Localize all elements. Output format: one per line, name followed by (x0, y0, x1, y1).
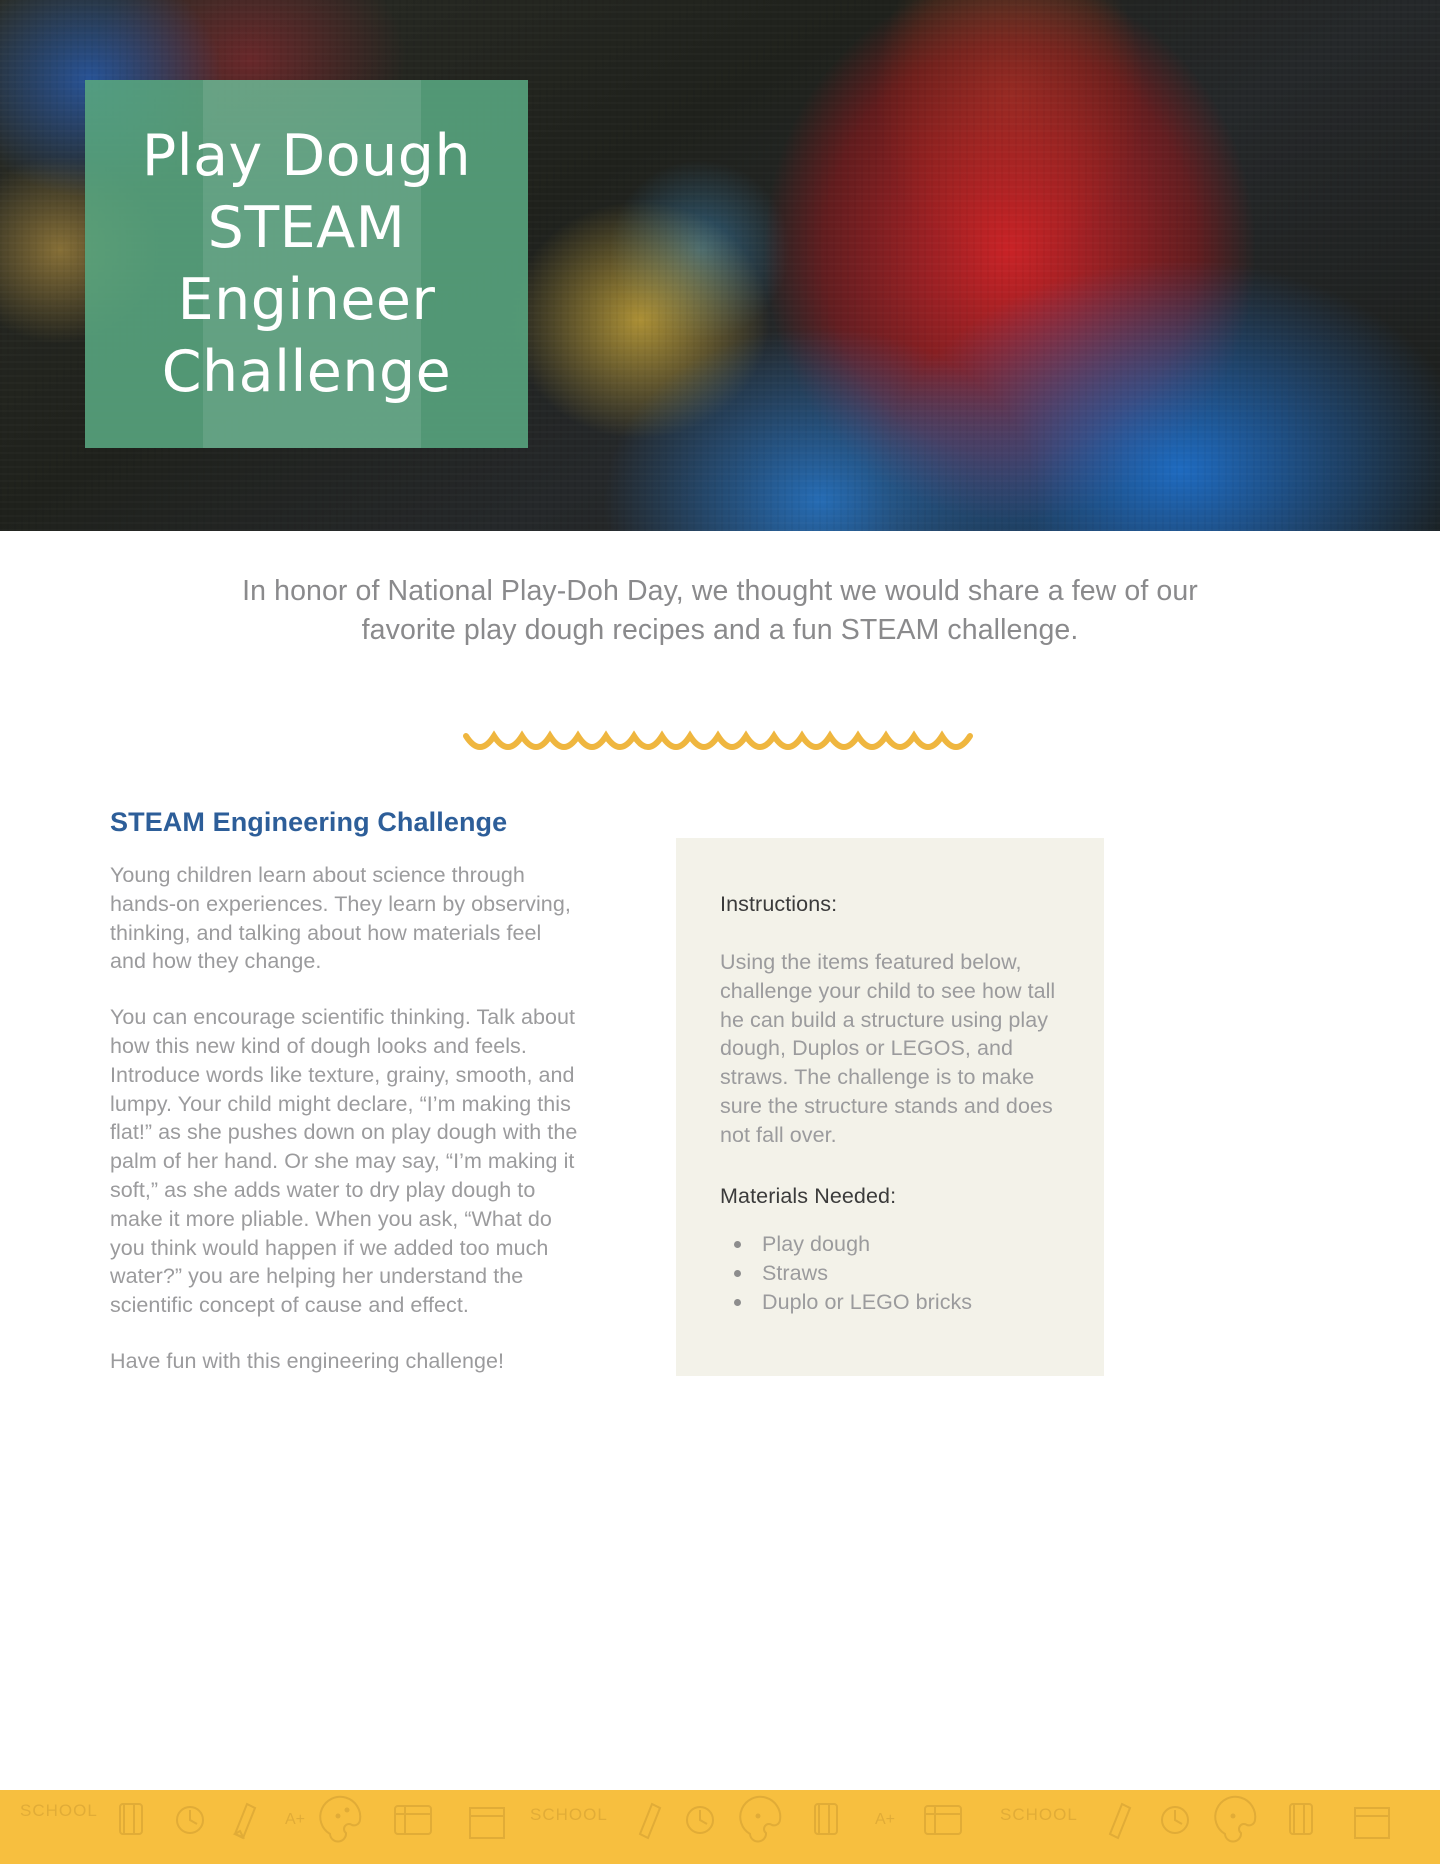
materials-list: Play dough Straws Duplo or LEGO bricks (720, 1230, 1070, 1317)
hero-banner: Play Dough STEAM Engineer Challenge (0, 0, 1440, 531)
footer-band: SCHOOL A+ SCHOOL (0, 1790, 1440, 1864)
svg-text:A+: A+ (285, 1811, 305, 1828)
instructions-label: Instructions: (720, 890, 1070, 918)
wave-divider-icon (462, 730, 978, 764)
body-paragraph-2: You can encourage scientific thinking. T… (110, 1003, 580, 1320)
title-card: Play Dough STEAM Engineer Challenge (85, 80, 528, 448)
instructions-text: Using the items featured below, challeng… (720, 948, 1070, 1150)
list-item: Straws (762, 1259, 1070, 1288)
body-paragraph-1: Young children learn about science throu… (110, 861, 580, 976)
list-item: Duplo or LEGO bricks (762, 1288, 1070, 1317)
list-item: Play dough (762, 1230, 1070, 1259)
scalloped-divider (462, 730, 978, 764)
school-supplies-pattern-icon: SCHOOL A+ SCHOOL (0, 1790, 1440, 1864)
page-title: Play Dough STEAM Engineer Challenge (85, 80, 528, 408)
instructions-card: Instructions: Using the items featured b… (676, 838, 1104, 1376)
svg-text:SCHOOL: SCHOOL (20, 1801, 98, 1820)
svg-text:SCHOOL: SCHOOL (1000, 1805, 1078, 1824)
left-column: STEAM Engineering Challenge Young childr… (110, 805, 580, 1376)
materials-label: Materials Needed: (720, 1182, 1070, 1210)
section-heading: STEAM Engineering Challenge (110, 805, 580, 839)
svg-text:A+: A+ (875, 1811, 895, 1828)
body-paragraph-3: Have fun with this engineering challenge… (110, 1347, 580, 1376)
svg-text:SCHOOL: SCHOOL (530, 1805, 608, 1824)
intro-text: In honor of National Play-Doh Day, we th… (220, 572, 1220, 650)
flyer-page: Play Dough STEAM Engineer Challenge In h… (0, 0, 1440, 1864)
